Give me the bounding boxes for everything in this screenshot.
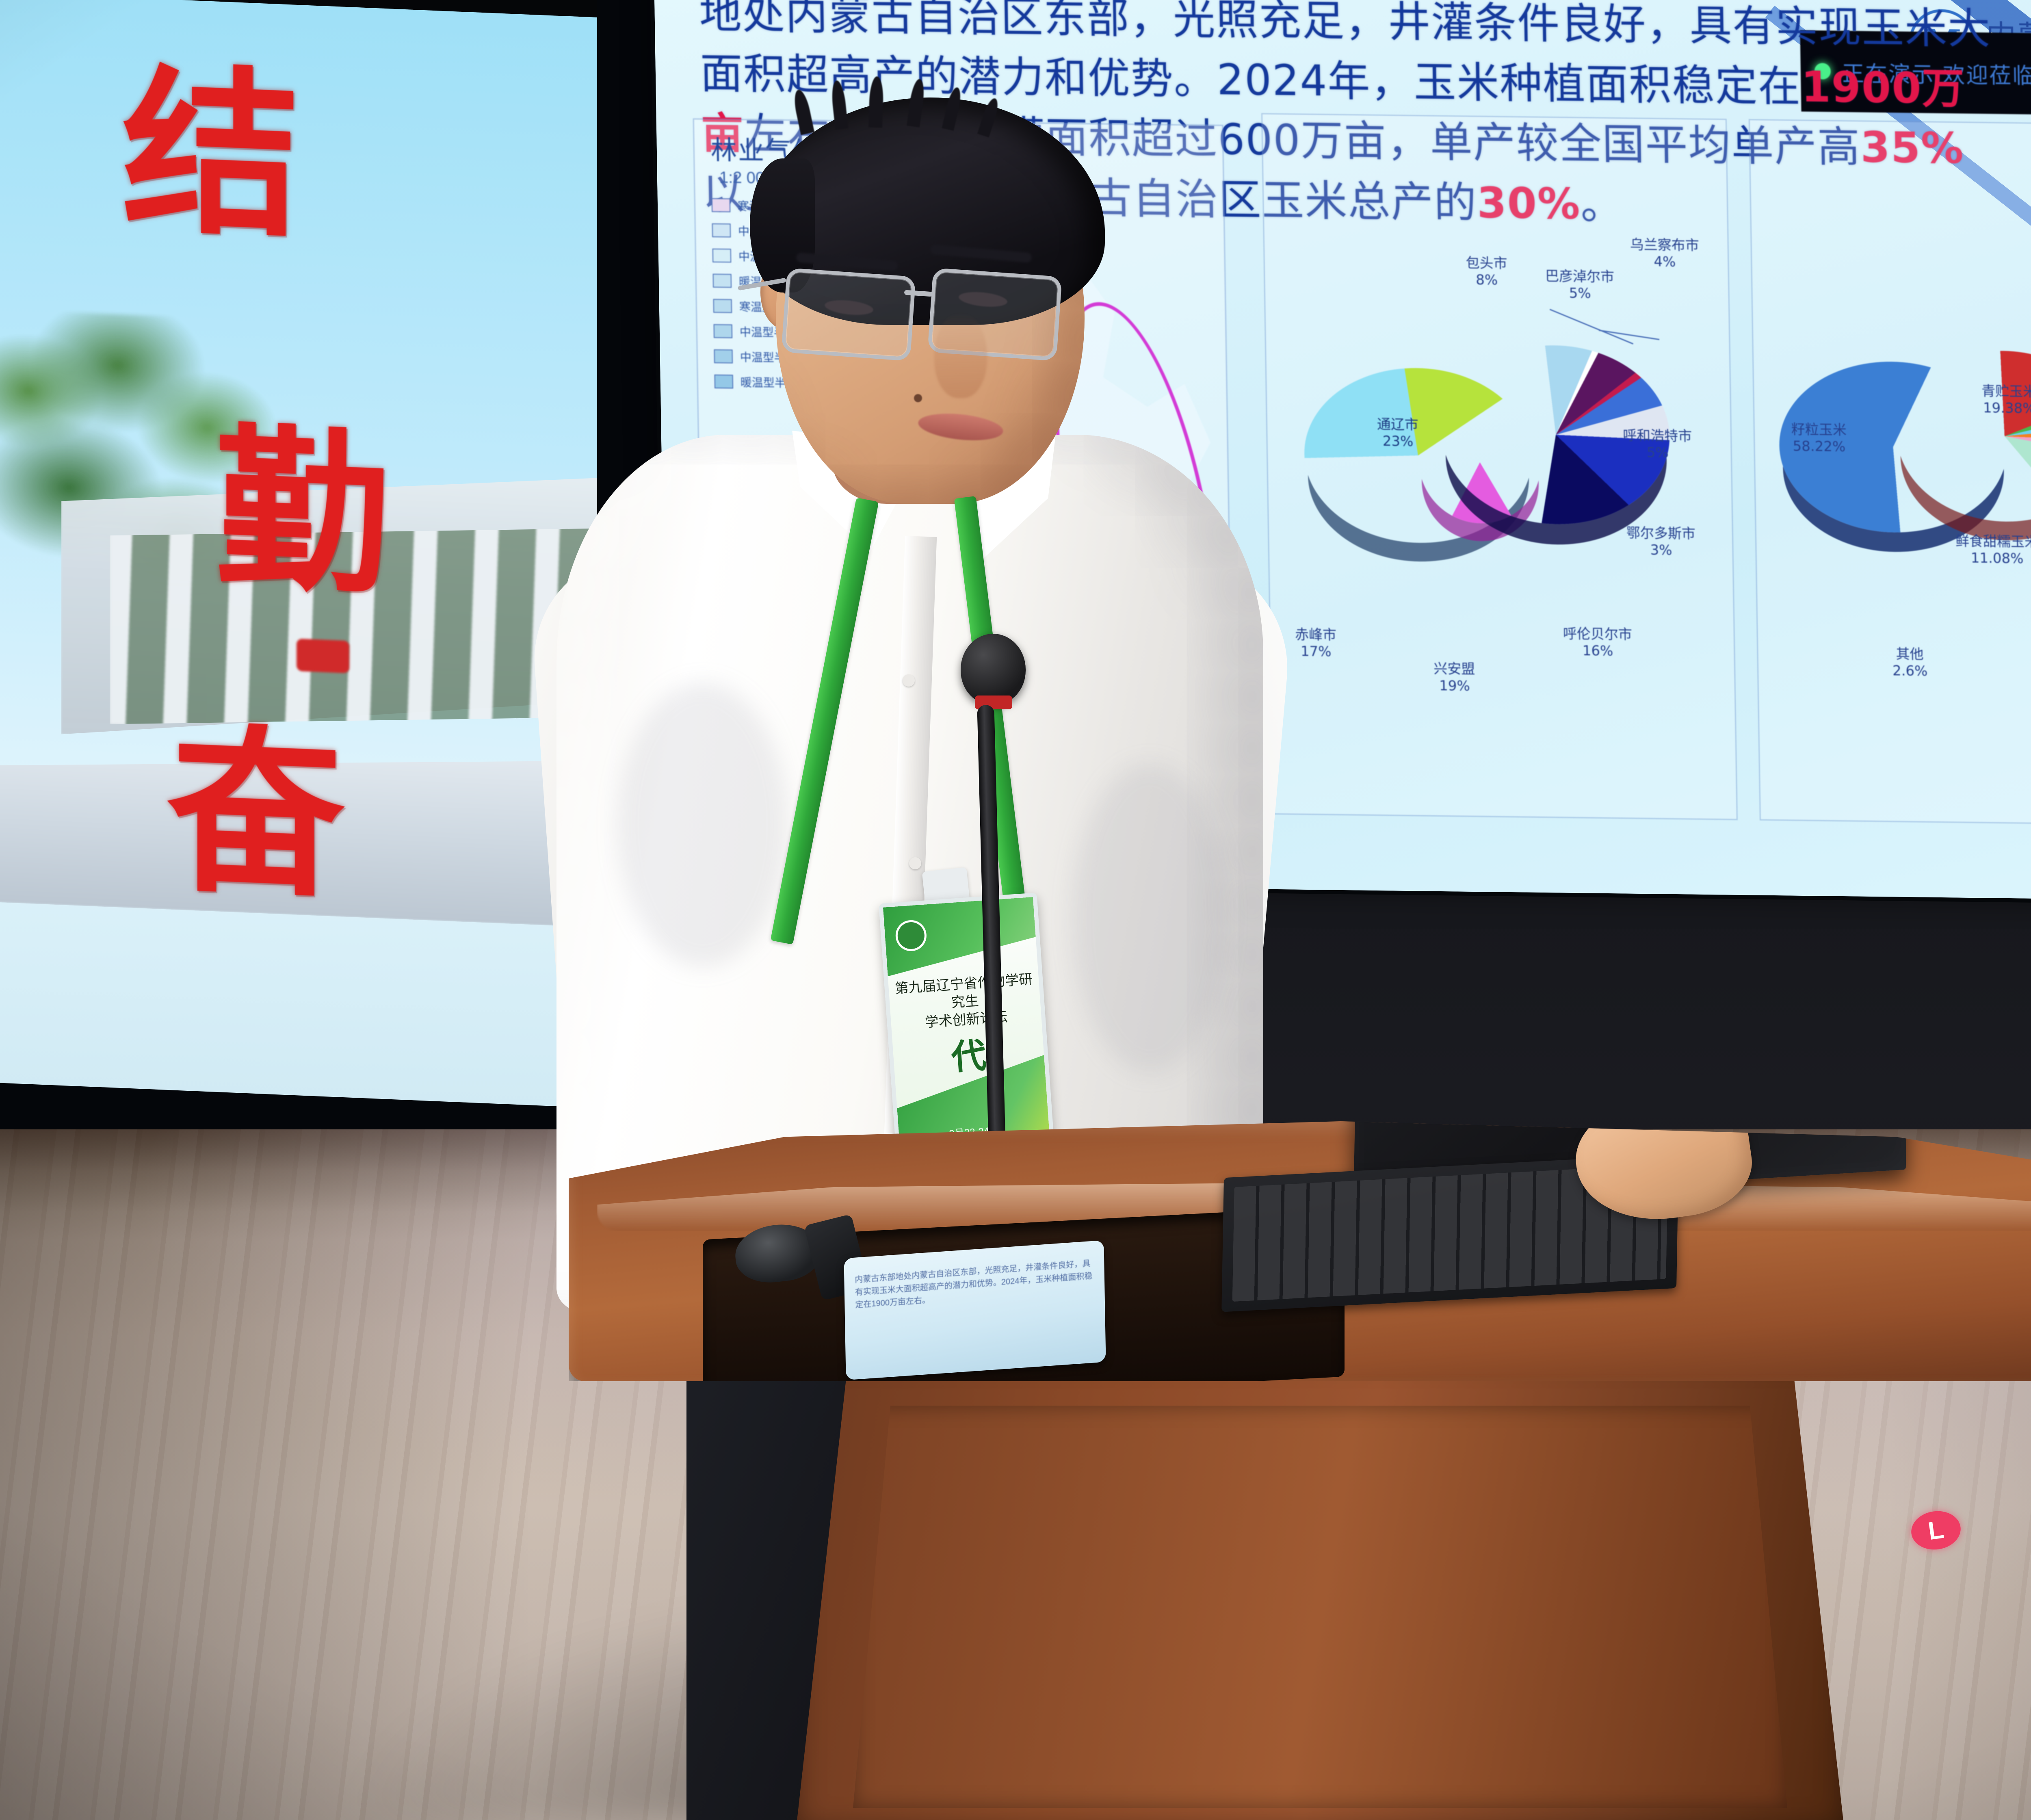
smartphone[interactable]: 内蒙古东部地处内蒙古自治区东部，光照充足，井灌条件良好，具有实现玉米大面积超高产… <box>844 1240 1106 1380</box>
presenter-mole <box>914 394 922 402</box>
pie1-label-ulanqab: 乌兰察布市 4% <box>1630 236 1699 271</box>
presentation-scene: 结 勤 奋 M 内蒙古民族大学 Inner Mongolia Minzu Uni… <box>0 0 2031 1820</box>
smartphone-script-text: 内蒙古东部地处内蒙古自治区东部，光照充足，井灌条件良好，具有实现玉米大面积超高产… <box>855 1257 1094 1312</box>
pie1-label-tongliao: 通辽市 23% <box>1377 416 1419 450</box>
left-screen-red-car <box>297 639 349 673</box>
shirt-button <box>909 857 921 869</box>
pie2-label-other: 其他 2.6% <box>1892 646 1928 680</box>
shirt-fold <box>1072 764 1227 1072</box>
pie1-leader-line <box>1550 309 1633 344</box>
badge-name: 代 <box>892 1023 1045 1084</box>
shirt-fold <box>617 682 788 967</box>
calligraphy-char-2: 勤 <box>215 367 390 627</box>
hair-spike <box>792 89 814 135</box>
microphone-windscreen <box>961 634 1026 705</box>
pie2-label-fresh-corn: 鲜食甜糯玉米 11.08% <box>1955 533 2031 567</box>
podium-top-surface: 内蒙古东部地处内蒙古自治区东部，光照充足，井灌条件良好，具有实现玉米大面积超高产… <box>569 1121 2031 1381</box>
podium-front-panel <box>853 1406 1787 1808</box>
pie1-label-baotou: 包头市 8% <box>1466 255 1507 289</box>
pie-chart-panel-2: 籽粒玉米 58.22% 青贮玉米 19.38% 鲜食甜糯玉米 11.08% 其他… <box>1749 119 2031 825</box>
pie1-label-hulunbuir: 呼伦贝尔市 16% <box>1563 626 1633 660</box>
pie1-label-bayannur: 巴彦淖尔市 5% <box>1545 268 1615 302</box>
badge-title-line1: 第九届辽宁省作物学研究生 <box>894 971 1033 1011</box>
pie1-label-hohhot: 呼和浩特市 5% <box>1623 427 1692 461</box>
pie2-label-grain-corn: 籽粒玉米 58.22% <box>1791 421 1847 455</box>
glasses-lens-left <box>781 268 916 361</box>
speaker-podium: 内蒙古东部地处内蒙古自治区东部，光照充足，井灌条件良好，具有实现玉米大面积超高产… <box>569 1121 2031 1820</box>
calligraphy-char-3: 奋 <box>167 665 345 932</box>
hair-spike <box>868 76 884 128</box>
calligraphy-char-1: 结 <box>122 6 301 272</box>
presenter-glasses <box>768 264 1093 353</box>
shirt-button <box>903 674 915 687</box>
pie2-label-silage-corn: 青贮玉米 19.38% <box>1981 383 2031 417</box>
presenter-nose <box>934 313 987 398</box>
pie1-label-xinganmeng: 兴安盟 19% <box>1433 661 1475 695</box>
pie1-label-ordos: 鄂尔多斯市 3% <box>1626 525 1696 559</box>
pie1-leader-line <box>1599 330 1659 340</box>
